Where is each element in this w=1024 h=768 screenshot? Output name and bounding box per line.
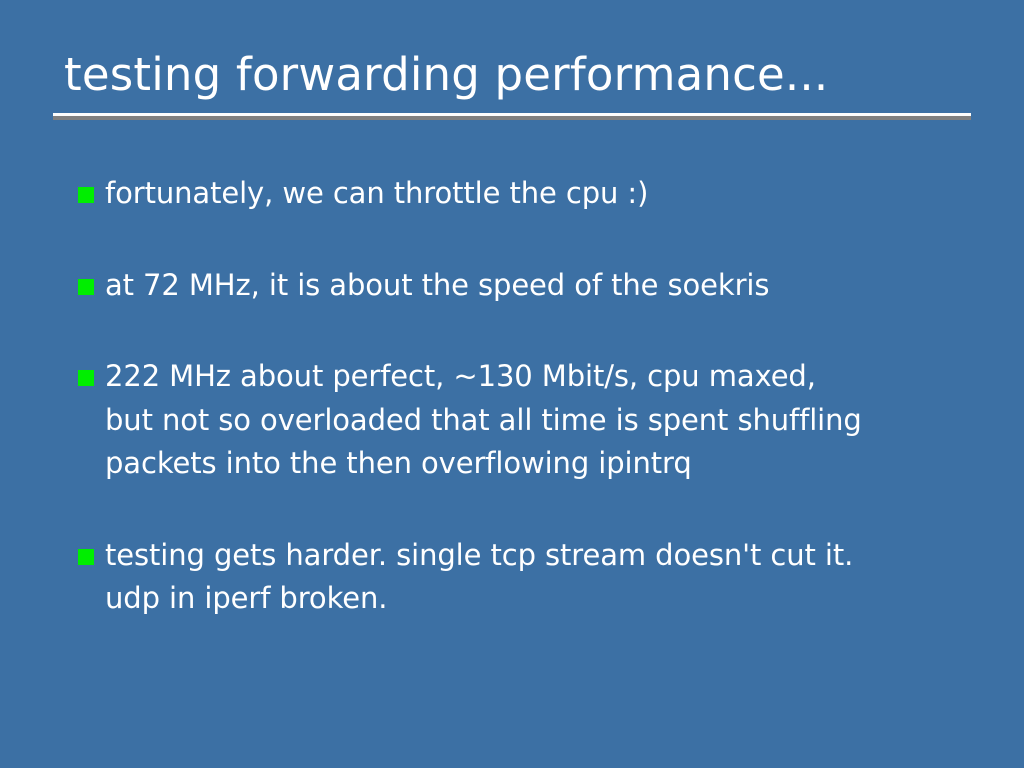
list-item: at 72 MHz, it is about the speed of the … bbox=[78, 264, 978, 308]
page-title: testing forwarding performance... bbox=[53, 46, 971, 104]
presentation-slide: testing forwarding performance... fortun… bbox=[0, 0, 1024, 768]
list-item-label: at 72 MHz, it is about the speed of the … bbox=[105, 264, 978, 308]
title-divider bbox=[53, 113, 971, 120]
list-item: testing gets harder. single tcp stream d… bbox=[78, 534, 978, 621]
title-divider-shadow bbox=[53, 116, 971, 120]
green-square-bullet-icon bbox=[78, 279, 94, 295]
list-item: 222 MHz about perfect, ~130 Mbit/s, cpu … bbox=[78, 355, 978, 486]
list-item: fortunately, we can throttle the cpu :) bbox=[78, 172, 978, 216]
green-square-bullet-icon bbox=[78, 370, 94, 386]
list-item-label: fortunately, we can throttle the cpu :) bbox=[105, 172, 978, 216]
green-square-bullet-icon bbox=[78, 549, 94, 565]
list-item-label: testing gets harder. single tcp stream d… bbox=[105, 534, 978, 621]
bullet-list: fortunately, we can throttle the cpu :) … bbox=[78, 172, 978, 621]
title-block: testing forwarding performance... bbox=[53, 46, 971, 104]
list-item-label: 222 MHz about perfect, ~130 Mbit/s, cpu … bbox=[105, 355, 978, 486]
green-square-bullet-icon bbox=[78, 187, 94, 203]
